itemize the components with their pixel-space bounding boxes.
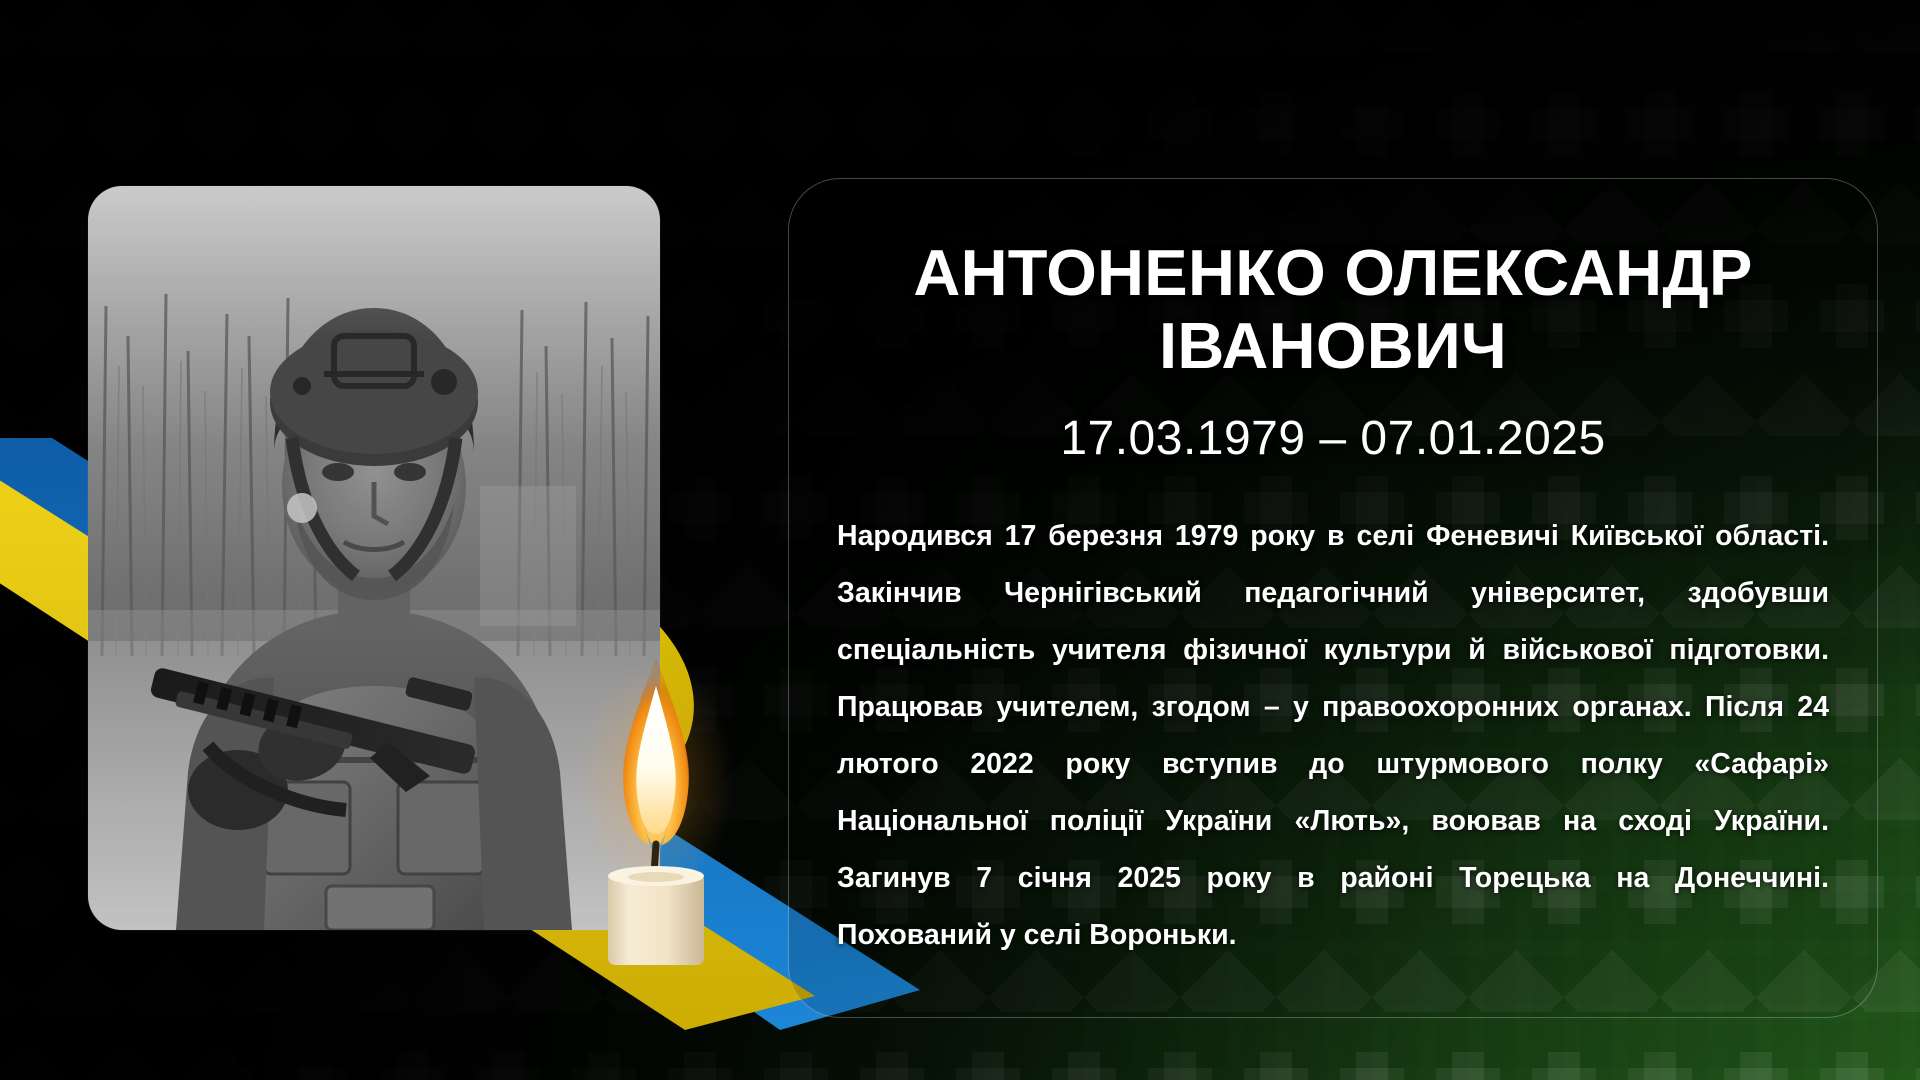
biography-text: Народився 17 березня 1979 року в селі Фе… [835, 508, 1831, 964]
soldier-name: АНТОНЕНКО ОЛЕКСАНДР ІВАНОВИЧ [835, 237, 1831, 383]
memorial-card: АНТОНЕНКО ОЛЕКСАНДР ІВАНОВИЧ 17.03.1979 … [0, 0, 1920, 1080]
life-dates: 17.03.1979 – 07.01.2025 [835, 411, 1831, 466]
portrait-photo [88, 186, 660, 930]
info-panel: АНТОНЕНКО ОЛЕКСАНДР ІВАНОВИЧ 17.03.1979 … [788, 178, 1878, 1018]
